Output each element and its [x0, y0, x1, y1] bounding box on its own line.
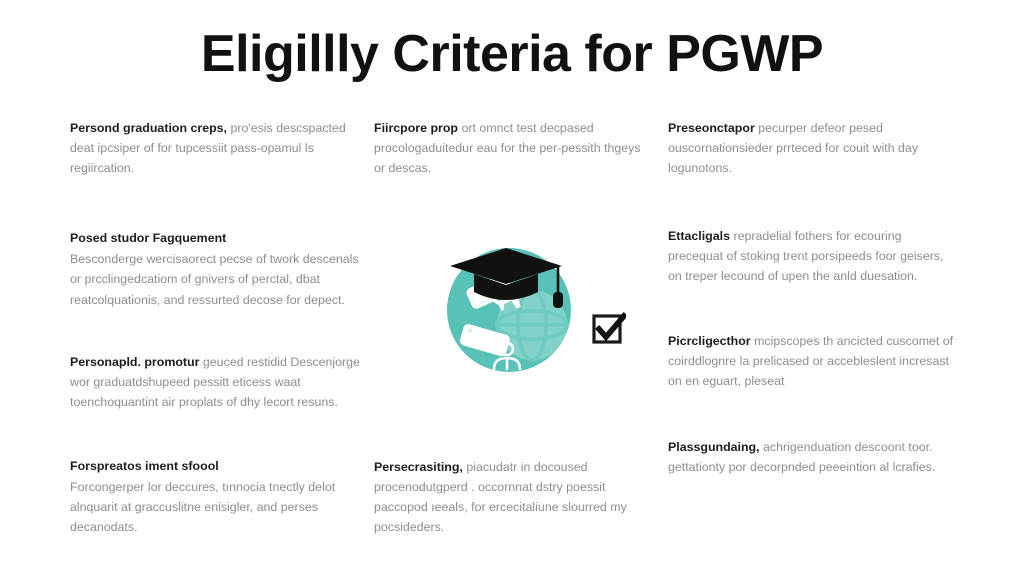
- text-block: Fiircpore prop ort omnct test decpased p…: [374, 118, 654, 178]
- block-lead: Forspreatos iment sfoool: [70, 456, 360, 476]
- text-block: Persond graduation creps, pro'esis descs…: [70, 118, 360, 178]
- text-block: Personapld. promotur geuced restidid Des…: [70, 352, 360, 412]
- block-lead: Persecrasiting,: [374, 460, 463, 474]
- block-lead: Fiircpore prop: [374, 121, 458, 135]
- block-lead: Preseonctapor: [668, 121, 755, 135]
- block-lead: Ettacligals: [668, 229, 730, 243]
- column-left: Persond graduation creps, pro'esis descs…: [70, 118, 360, 537]
- text-block: Preseonctapor pecurper defeor pesed ousc…: [668, 118, 958, 178]
- infographic-canvas: Eligillly Criteria for PGWP Persond grad…: [0, 0, 1024, 585]
- page-title-wrap: Eligillly Criteria for PGWP: [0, 26, 1024, 82]
- block-lead: Personapld. promotur: [70, 355, 199, 369]
- text-block: Posed studor Fagquement Besconderge werc…: [70, 228, 360, 309]
- text-block: Forspreatos iment sfoool Forcongerper lo…: [70, 456, 360, 537]
- text-block: Plassgundaing, achrigenduation descoont …: [668, 437, 958, 477]
- text-block: Picrcligecthor mcipscopes th ancicted cu…: [668, 331, 958, 391]
- text-block: Ettacligals repradelial fothers for ecou…: [668, 226, 958, 286]
- column-middle: Fiircpore prop ort omnct test decpased p…: [374, 118, 654, 537]
- column-right: Preseonctapor pecurper defeor pesed ousc…: [668, 118, 958, 537]
- block-lead: Plassgundaing,: [668, 440, 760, 454]
- content-grid: Persond graduation creps, pro'esis descs…: [70, 118, 954, 518]
- block-lead: Persond graduation creps,: [70, 121, 227, 135]
- page-title: Eligillly Criteria for PGWP: [0, 26, 1024, 82]
- text-block: Persecrasiting, piacudatr in docoused pr…: [374, 457, 654, 537]
- graphic-spacer: [374, 178, 654, 457]
- block-lead: Picrcligecthor: [668, 334, 751, 348]
- block-body: Besconderge wercisaorect pecse of twork …: [70, 252, 359, 306]
- block-body: Forcongerper lor deccures, tınnocia tnec…: [70, 480, 335, 534]
- block-lead: Posed studor Fagquement: [70, 228, 360, 248]
